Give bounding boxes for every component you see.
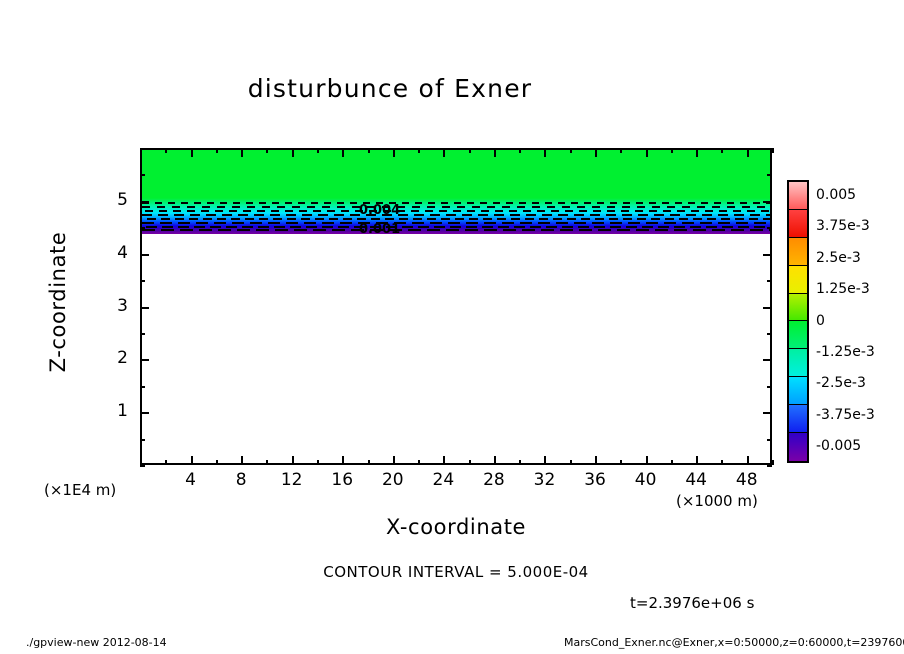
field-empty-region xyxy=(142,234,770,463)
x-axis-minor-tick-top xyxy=(418,148,420,153)
x-axis-minor-tick xyxy=(570,460,572,465)
contour-label: 0.004 xyxy=(359,203,400,218)
y-axis-major-tick xyxy=(140,307,149,309)
colorbar-tick-label: -3.75e-3 xyxy=(816,407,875,423)
x-axis-major-tick-top xyxy=(443,148,445,157)
x-axis-minor-tick-top xyxy=(216,148,218,153)
colorbar xyxy=(787,180,809,463)
x-axis-major-tick-top xyxy=(292,148,294,157)
y-axis-minor-tick xyxy=(140,386,145,388)
colorbar-band xyxy=(789,294,807,322)
colorbar-band xyxy=(789,405,807,433)
colorbar-band xyxy=(789,238,807,266)
x-axis-minor-tick xyxy=(216,460,218,465)
x-axis-major-tick-top xyxy=(544,148,546,157)
x-axis-major-tick-top xyxy=(646,148,648,157)
colorbar-band xyxy=(789,321,807,349)
y-axis-minor-tick-right xyxy=(767,227,772,229)
field-uniform-region xyxy=(142,150,770,198)
x-axis-tick-label: 20 xyxy=(373,470,413,490)
x-axis-minor-tick-top xyxy=(368,148,370,153)
x-axis-major-tick xyxy=(191,456,193,465)
y-axis-minor-tick-right xyxy=(767,465,772,467)
y-axis-tick-label: 4 xyxy=(100,243,128,263)
x-axis-major-tick-top xyxy=(191,148,193,157)
y-axis-major-tick-right xyxy=(763,201,772,203)
y-axis-minor-tick xyxy=(140,333,145,335)
x-axis-minor-tick xyxy=(620,460,622,465)
colorbar-tick-label: -0.005 xyxy=(816,438,861,454)
x-axis-minor-tick-top xyxy=(671,148,673,153)
x-axis-minor-tick-top xyxy=(772,148,774,153)
y-axis-minor-tick-right xyxy=(767,280,772,282)
x-axis-tick-label: 44 xyxy=(676,470,716,490)
x-axis-major-tick xyxy=(292,456,294,465)
x-axis-tick-label: 32 xyxy=(524,470,564,490)
x-axis-major-tick-top xyxy=(342,148,344,157)
x-axis-major-tick xyxy=(646,456,648,465)
y-axis-major-tick-right xyxy=(763,307,772,309)
x-axis-minor-tick xyxy=(469,460,471,465)
colorbar-band xyxy=(789,210,807,238)
x-axis-minor-tick xyxy=(772,460,774,465)
y-axis-minor-tick xyxy=(140,280,145,282)
x-axis-tick-label: 12 xyxy=(272,470,312,490)
x-axis-major-tick xyxy=(393,456,395,465)
contour-line xyxy=(142,218,770,220)
y-axis-major-tick-right xyxy=(763,412,772,414)
time-stamp-label: t=2.3976e+06 s xyxy=(630,594,754,612)
x-axis-tick-label: 36 xyxy=(575,470,615,490)
x-axis-minor-tick-top xyxy=(620,148,622,153)
y-axis-major-tick xyxy=(140,201,149,203)
x-axis-major-tick xyxy=(241,456,243,465)
y-axis-minor-tick-right xyxy=(767,174,772,176)
y-axis-major-tick-right xyxy=(763,254,772,256)
colorbar-tick-label: -2.5e-3 xyxy=(816,375,866,391)
x-axis-major-tick xyxy=(696,456,698,465)
x-axis-tick-label: 28 xyxy=(474,470,514,490)
y-axis-minor-tick-right xyxy=(767,333,772,335)
x-axis-major-tick-top xyxy=(494,148,496,157)
footer-source-label: MarsCond_Exner.nc@Exner,x=0:50000,z=0:60… xyxy=(564,636,904,649)
colorbar-tick-label: 2.5e-3 xyxy=(816,250,861,266)
colorbar-band xyxy=(789,266,807,294)
contour-lines xyxy=(142,198,770,234)
x-axis-minor-tick-top xyxy=(469,148,471,153)
y-axis-major-tick-right xyxy=(763,359,772,361)
y-axis-tick-label: 3 xyxy=(100,296,128,316)
x-axis-major-tick-top xyxy=(241,148,243,157)
colorbar-tick-label: 0.005 xyxy=(816,187,856,203)
contour-label: 0.001 xyxy=(359,222,400,237)
contour-line xyxy=(142,210,770,212)
page-title: disturbunce of Exner xyxy=(0,74,780,103)
contour-line xyxy=(142,222,770,224)
colorbar-band xyxy=(789,182,807,210)
y-axis-minor-tick-right xyxy=(767,439,772,441)
y-axis-minor-tick xyxy=(140,439,145,441)
y-axis-minor-tick xyxy=(140,174,145,176)
colorbar-tick-label: -1.25e-3 xyxy=(816,344,875,360)
x-axis-major-tick-top xyxy=(747,148,749,157)
y-axis-major-tick xyxy=(140,412,149,414)
footer-command-label: ./gpview-new 2012-08-14 xyxy=(26,636,167,649)
contour-line xyxy=(142,226,770,228)
contour-line xyxy=(142,206,770,208)
x-axis-minor-tick xyxy=(165,460,167,465)
y-axis-tick-label: 5 xyxy=(100,190,128,210)
colorbar-tick-label: 3.75e-3 xyxy=(816,218,870,234)
x-axis-tick-label: 48 xyxy=(727,470,767,490)
y-axis-major-tick xyxy=(140,254,149,256)
y-axis-minor-tick-right xyxy=(767,148,772,150)
x-axis-major-tick-top xyxy=(595,148,597,157)
x-axis-title: X-coordinate xyxy=(140,515,772,539)
x-axis-tick-label: 40 xyxy=(626,470,666,490)
colorbar-tick-label: 1.25e-3 xyxy=(816,281,870,297)
x-axis-major-tick xyxy=(342,456,344,465)
contour-line xyxy=(142,229,770,231)
x-axis-minor-tick-top xyxy=(165,148,167,153)
x-axis-minor-tick xyxy=(671,460,673,465)
x-axis-major-tick xyxy=(544,456,546,465)
x-axis-major-tick-top xyxy=(393,148,395,157)
x-axis-tick-label: 16 xyxy=(322,470,362,490)
x-axis-major-tick xyxy=(494,456,496,465)
x-axis-major-tick xyxy=(595,456,597,465)
x-axis-minor-tick xyxy=(368,460,370,465)
x-axis-minor-tick-top xyxy=(721,148,723,153)
y-axis-minor-tick xyxy=(140,227,145,229)
y-axis-minor-tick-right xyxy=(767,386,772,388)
x-axis-minor-tick xyxy=(721,460,723,465)
contour-line xyxy=(142,202,770,204)
x-axis-major-tick-top xyxy=(696,148,698,157)
y-axis-major-tick xyxy=(140,359,149,361)
colorbar-band xyxy=(789,349,807,377)
contour-interval-label: CONTOUR INTERVAL = 5.000E-04 xyxy=(140,563,772,581)
x-axis-tick-label: 24 xyxy=(423,470,463,490)
x-axis-minor-tick xyxy=(519,460,521,465)
x-axis-minor-tick-top xyxy=(266,148,268,153)
y-axis-tick-label: 2 xyxy=(100,348,128,368)
x-axis-minor-tick-top xyxy=(519,148,521,153)
x-axis-minor-tick xyxy=(266,460,268,465)
x-axis-tick-label: 4 xyxy=(171,470,211,490)
x-axis-minor-tick-top xyxy=(570,148,572,153)
contour-field: 0.004 0.001 xyxy=(142,150,770,463)
x-axis-unit-label: (×1000 m) xyxy=(676,492,758,510)
y-axis-minor-tick xyxy=(140,465,145,467)
y-axis-tick-label: 1 xyxy=(100,401,128,421)
colorbar-band xyxy=(789,377,807,405)
x-axis-tick-label: 8 xyxy=(221,470,261,490)
x-axis-minor-tick xyxy=(317,460,319,465)
x-axis-minor-tick xyxy=(418,460,420,465)
colorbar-band xyxy=(789,433,807,461)
x-axis-major-tick xyxy=(443,456,445,465)
y-axis-minor-tick xyxy=(140,148,145,150)
colorbar-tick-label: 0 xyxy=(816,313,825,329)
contour-line xyxy=(142,214,770,216)
plot-area: 0.004 0.001 xyxy=(140,148,772,465)
x-axis-major-tick xyxy=(747,456,749,465)
y-axis-unit-label: (×1E4 m) xyxy=(44,481,116,499)
y-axis-title: Z-coordinate xyxy=(46,192,70,412)
x-axis-minor-tick-top xyxy=(317,148,319,153)
